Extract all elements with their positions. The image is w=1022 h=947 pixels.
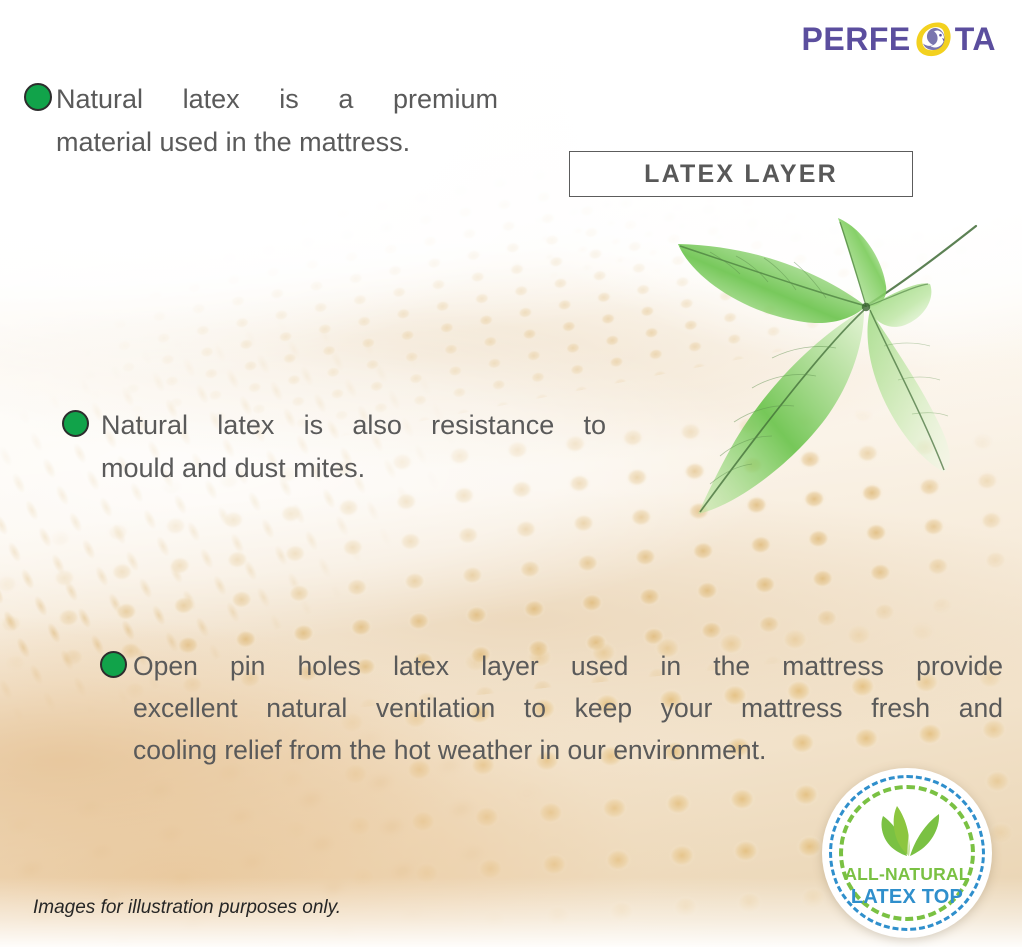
green-dot-bullet-icon — [62, 410, 89, 437]
crescent-moon-sleeping-figure-icon — [912, 18, 954, 60]
compound-leaf-graphic — [676, 214, 1006, 526]
bullet-line: mould and dust mites. — [101, 447, 606, 490]
latex-layer-title-box: LATEX LAYER — [569, 151, 913, 197]
green-dot-bullet-icon — [100, 651, 127, 678]
all-natural-latex-top-badge: ALL-NATURAL LATEX TOP — [822, 768, 992, 938]
brand-logo: PERFE TA — [802, 18, 996, 60]
bullet-text: Natural latex is also resistance to moul… — [101, 404, 606, 490]
illustration-disclaimer: Images for illustration purposes only. — [33, 897, 341, 919]
brand-name-left: PERFE — [802, 21, 911, 58]
two-leaves-icon — [869, 796, 945, 863]
bullet-line: Natural latex is also resistance to — [101, 404, 606, 447]
green-dot-bullet-icon — [24, 83, 52, 111]
bullet-text: Open pin holes latex layer used in the m… — [133, 645, 1003, 771]
bullet-line: material used in the mattress. — [56, 121, 498, 164]
latex-layer-infographic: PERFE TA LATEX LAYER Natural latex is a … — [0, 0, 1022, 947]
bullet-ventilation: Open pin holes latex layer used in the m… — [100, 645, 1005, 771]
bullet-premium-material: Natural latex is a premium material used… — [24, 78, 524, 164]
page-title: LATEX LAYER — [644, 160, 838, 189]
bullet-line: Natural latex is a premium — [56, 78, 498, 121]
bullet-text: Natural latex is a premium material used… — [56, 78, 498, 164]
bullet-line: cooling relief from the hot weather in o… — [133, 729, 1003, 771]
bullet-line: excellent natural ventilation to keep yo… — [133, 687, 1003, 729]
badge-line-1: ALL-NATURAL — [822, 864, 992, 885]
brand-name-right: TA — [955, 21, 996, 58]
badge-line-2: LATEX TOP — [822, 886, 992, 909]
bullet-mould-resistance: Natural latex is also resistance to moul… — [62, 404, 622, 490]
bullet-line: Open pin holes latex layer used in the m… — [133, 645, 1003, 687]
